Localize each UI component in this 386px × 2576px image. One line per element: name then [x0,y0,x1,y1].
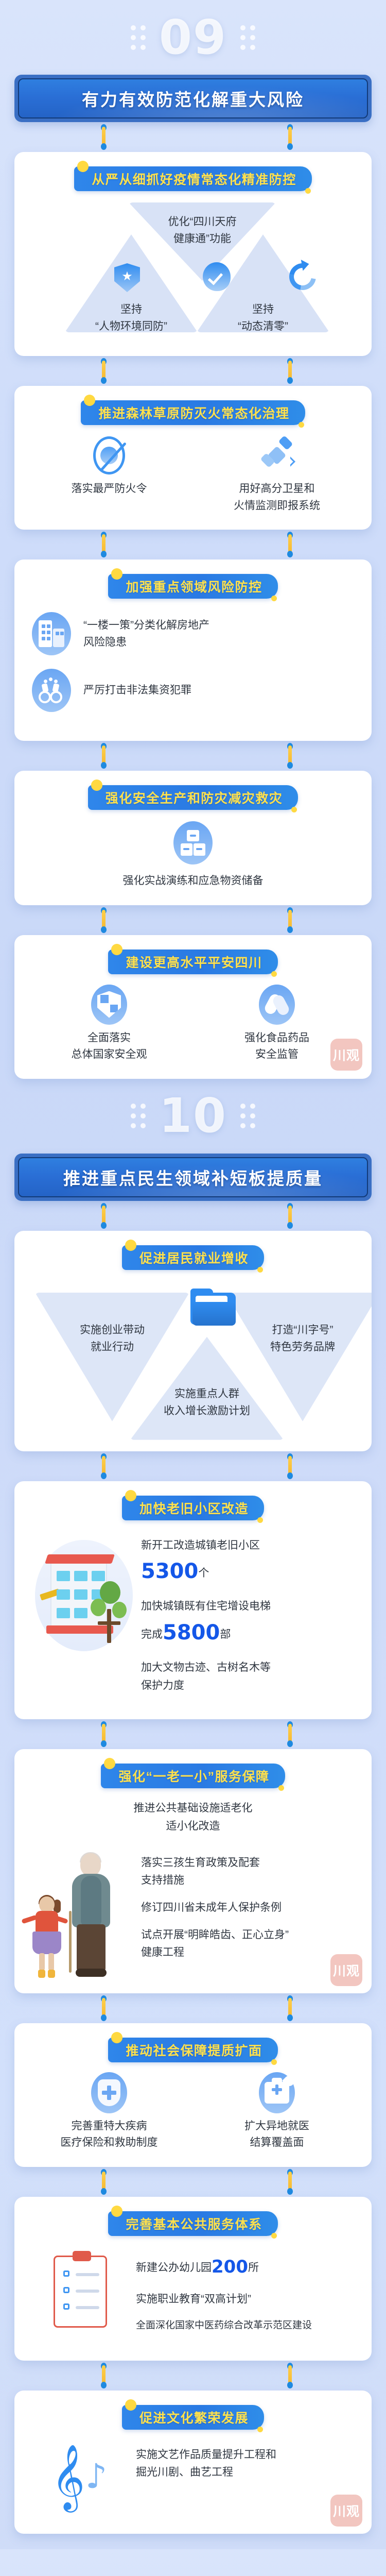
connector-pins [14,1201,372,1231]
building-icon [32,612,71,655]
item-label: 用好高分卫星和 火情监测即报系统 [234,481,320,514]
card-safe-sichuan: 建设更高水平平安四川 全面落实 总体国家安全观 强化食品药品 安全监管 [14,935,372,1079]
illustration-text: 实施文艺作品质量提升工程和 掘光川剧、曲艺工程 [136,2441,358,2491]
stat-line: 新建公办幼儿园200所 [136,2252,358,2281]
card-forest-fire: 推进森林草原防灭火常态化治理 落实最严防火令 用好高分卫星和 火情监测即报系统 [14,386,372,530]
list-item: 全面落实 总体国家安全观 [30,986,188,1063]
connector-pins [14,356,372,386]
item-label: 落实最严防火令 [72,481,147,498]
card-key-risk-areas: 加强重点领域风险防控 “一楼一策”分类化解房地产 风险隐患 [14,560,372,741]
card-employment: 促进居民就业增收 实施创业带动 就业行动 打造“川字号” 特色劳务品牌 实施重点… [14,1231,372,1451]
connector-pins [14,905,372,935]
item-label: 严厉打击非法集资犯罪 [83,682,191,699]
ribbon-culture: 促进文化繁荣发展 [122,2405,264,2430]
pin-left [101,532,106,557]
v-bottom-label: 实施重点人群 收入增长激励计划 [131,1385,283,1420]
stat-number: 200 [212,2257,248,2277]
item-label: 完善重特大疾病 医疗保险和救助制度 [61,2118,158,2151]
list-item: 完善重特大疾病 医疗保险和救助制度 [30,2074,188,2151]
ribbon-label: 强化“一老一小”服务保障 [118,1767,269,1785]
ribbon-label: 建设更高水平平安四川 [126,953,262,971]
elderly-child-illustration [28,1849,136,1978]
card-old-community: 加快老旧小区改造 [14,1481,372,1720]
chapter-number: 10 [159,1092,227,1140]
watermark-logo: 川观 [330,1039,362,1071]
pin-right [287,1721,292,1747]
triangle-left-label: 坚持 “人物环境同防” [67,301,196,335]
pin-right [287,907,292,933]
v-left-label: 实施创业带动 就业行动 [35,1321,189,1356]
connector-pins [14,530,372,560]
dot-grid-right-icon [240,1104,255,1128]
bottom-spacer [0,2534,386,2549]
policy-line: 修订四川省未成年人保护条例 [141,1899,358,1917]
connector-pins [14,2361,372,2391]
policy-line: 全面深化国家中医药综合改革示范区建设 [136,2317,358,2333]
stat-line: 加快城镇既有住宅增设电梯 完成5800部 [141,1598,358,1650]
ribbon-label: 推动社会保障提质扩面 [126,2041,262,2059]
ribbon-label: 加强重点领域风险防控 [126,577,262,596]
stat-number: 5800 [163,1621,220,1645]
row-list: “一楼一策”分类化解房地产 风险隐患 严厉打击非法集资犯罪 [14,610,372,712]
ribbon-employment: 促进居民就业增收 [122,1245,264,1270]
two-column-list: 落实最严防火令 用好高分卫星和 火情监测即报系统 [14,436,372,514]
pin-left [101,1203,106,1229]
pin-right [287,1995,292,2021]
chapter-header-10: 10 [0,1079,386,1154]
card-culture: 促进文化繁荣发展 𝄞 ♪ 实施文艺作品质量提升工程和 掘光川剧、曲艺工程 川观 [14,2391,372,2534]
item-label: 强化实战演练和应急物资储备 [123,873,264,890]
ribbon-forest-fire: 推进森林草原防灭火常态化治理 [81,400,305,425]
ribbon-social-security: 推动社会保障提质扩面 [108,2038,277,2062]
shield-icon [90,986,128,1024]
refresh-arrow-icon [289,263,317,292]
illustration-text: 新建公办幼儿园200所 实施职业教育“双高计划” 全面深化国家中医药综合改革示范… [136,2247,358,2343]
list-item: “一楼一策”分类化解房地产 风险隐患 [32,612,354,655]
handcuffs-icon [32,669,71,712]
illustration-text: 落实三孩生育政策及配套 支持措施 修订四川省未成年人保护条例 试点开展“明眸皓齿… [141,1849,358,1971]
pin-left [101,358,106,384]
pin-right [287,2363,292,2388]
medicine-icon [258,986,296,1024]
ribbon-label: 强化安全生产和防灾减灾救灾 [106,788,283,807]
ribbon-elderly-children: 强化“一老一小”服务保障 [101,1764,285,1788]
policy-line: 实施职业教育“双高计划” [136,2291,358,2309]
ribbon-label: 促进文化繁荣发展 [139,2408,249,2427]
illustration-row: 𝄞 ♪ 实施文艺作品质量提升工程和 掘光川剧、曲艺工程 [14,2441,372,2518]
stat-line: 新开工改造城镇老旧小区 5300个 [141,1537,358,1589]
ribbon-key-risk-areas: 加强重点领域风险防控 [108,574,277,599]
watermark-logo: 川观 [330,1954,362,1986]
pin-right [287,358,292,384]
triangle-cluster: 优化“四川天府 健康通”功能 ★ 坚持 “人物环境同防” 坚持 “动态清零” [26,202,360,341]
folder-icon [190,1289,236,1327]
dot-grid-right-icon [240,25,255,50]
connector-pins [14,1719,372,1749]
banner-title: 有力有效防范化解重大风险 [82,86,304,111]
two-column-list: 完善重特大疾病 医疗保险和救助制度 扩大异地就医 结算覆盖面 [14,2074,372,2151]
pin-left [101,743,106,769]
policy-line: 落实三孩生育政策及配套 支持措施 [141,1854,358,1890]
chapter-banner-10: 推进重点民生领域补短板提质量 [14,1154,372,1201]
clipboard-illustration [28,2247,131,2345]
v-triangle-cluster: 实施创业带动 就业行动 打造“川字号” 特色劳务品牌 实施重点人群 收入增长激励… [21,1281,365,1436]
pin-right [287,2169,292,2195]
triangle-center-label: 优化“四川天府 健康通”功能 [136,214,269,247]
ribbon-label: 加快老旧小区改造 [139,1499,249,1517]
card-epidemic-control: 从严从细抓好疫情常态化精准防控 优化“四川天府 健康通”功能 ★ 坚持 “人物环… [14,152,372,356]
card-safety-production: 强化安全生产和防灾减灾救灾 强化实战演练和应急物资储备 [14,771,372,905]
chapter-banner-09: 有力有效防范化解重大风险 [14,75,372,122]
stat-number: 5300 [141,1560,198,1583]
dot-grid-left-icon [131,1104,146,1128]
ribbon-label: 推进森林草原防灭火常态化治理 [98,403,289,422]
illustration-row: 新开工改造城镇老旧小区 5300个 加快城镇既有住宅增设电梯 完成5800部 加… [14,1532,372,1704]
chapter-header-09: 09 [0,0,386,75]
card-elderly-children: 强化“一老一小”服务保障 推进公共基础设施适老化 适小化改造 [14,1749,372,1993]
card-social-security: 推动社会保障提质扩面 完善重特大疾病 医疗保险和救助制度 扩大异地就医 结算覆盖… [14,2023,372,2167]
ribbon-old-community: 加快老旧小区改造 [122,1496,264,1520]
item-label: 全面落实 总体国家安全观 [72,1030,147,1063]
building-illustration [28,1532,136,1660]
policy-line: 试点开展“明眸皓齿、正心立身” 健康工程 [141,1926,358,1962]
policy-line: 推进公共基础设施适老化 适小化改造 [32,1800,354,1835]
music-note-illustration: 𝄞 ♪ [28,2441,131,2518]
watermark-logo: 川观 [330,2495,362,2527]
pin-right [287,1203,292,1229]
ribbon-safety-production: 强化安全生产和防灾减灾救灾 [88,785,299,810]
ribbon-label: 促进居民就业增收 [139,1248,249,1267]
policy-line: 实施文艺作品质量提升工程和 掘光川剧、曲艺工程 [136,2446,358,2482]
item-label: “一楼一策”分类化解房地产 风险隐患 [83,617,209,651]
illustration-row: 落实三孩生育政策及配套 支持措施 修订四川省未成年人保护条例 试点开展“明眸皓齿… [14,1849,372,1978]
pin-right [287,124,292,150]
supply-box-icon [173,821,213,865]
connector-pins [14,1451,372,1481]
illustration-row: 新建公办幼儿园200所 实施职业教育“双高计划” 全面深化国家中医药综合改革示范… [14,2247,372,2345]
pin-left [101,124,106,150]
pin-left [101,1453,106,1479]
ribbon-label: 完善基本公共服务体系 [126,2214,262,2233]
dot-grid-left-icon [131,25,146,50]
pin-left [101,1721,106,1747]
stat-line: 加大文物古迹、古树名木等 保护力度 [141,1659,358,1694]
satellite-icon [258,436,296,474]
ribbon-safe-sichuan: 建设更高水平平安四川 [108,950,277,974]
ribbon-epidemic-control: 从严从细抓好疫情常态化精准防控 [74,166,312,191]
item-label: 强化食品药品 安全监管 [244,1030,309,1063]
ribbon-public-services: 完善基本公共服务体系 [108,2211,277,2236]
connector-pins [14,1993,372,2023]
shield-star-icon: ★ [114,263,142,292]
triangle-right-label: 坚持 “动态清零” [199,301,327,335]
ribbon-label: 从严从细抓好疫情常态化精准防控 [92,170,296,188]
pin-left [101,907,106,933]
connector-pins [14,2167,372,2197]
connector-pins [14,741,372,771]
chapter-number: 09 [159,14,227,61]
card-public-services: 完善基本公共服务体系 新建公办幼儿园200所 实施职业教育“双高计划” 全面深化… [14,2197,372,2361]
connector-pins [14,122,372,152]
pin-right [287,1453,292,1479]
pin-left [101,2363,106,2388]
pin-right [287,743,292,769]
list-item: 落实最严防火令 [30,436,188,514]
pin-left [101,1995,106,2021]
banner-title: 推进重点民生领域补短板提质量 [63,1165,323,1190]
list-item: 严厉打击非法集资犯罪 [32,669,354,712]
v-right-label: 打造“川字号” 特色劳务品牌 [226,1321,372,1356]
illustration-text: 新开工改造城镇老旧小区 5300个 加快城镇既有住宅增设电梯 完成5800部 加… [141,1532,358,1704]
pin-left [101,2169,106,2195]
two-column-list: 全面落实 总体国家安全观 强化食品药品 安全监管 [14,986,372,1063]
item-label: 扩大异地就医 结算覆盖面 [244,2118,309,2151]
medical-case-icon [258,2074,296,2112]
check-circle-icon [203,262,231,291]
single-item-block: 强化实战演练和应急物资储备 [14,821,372,890]
list-item: 扩大异地就医 结算覆盖面 [198,2074,356,2151]
list-item: 用好高分卫星和 火情监测即报系统 [198,436,356,514]
pin-right [287,532,292,557]
no-fire-icon [90,436,128,474]
medical-cross-icon [90,2074,128,2112]
